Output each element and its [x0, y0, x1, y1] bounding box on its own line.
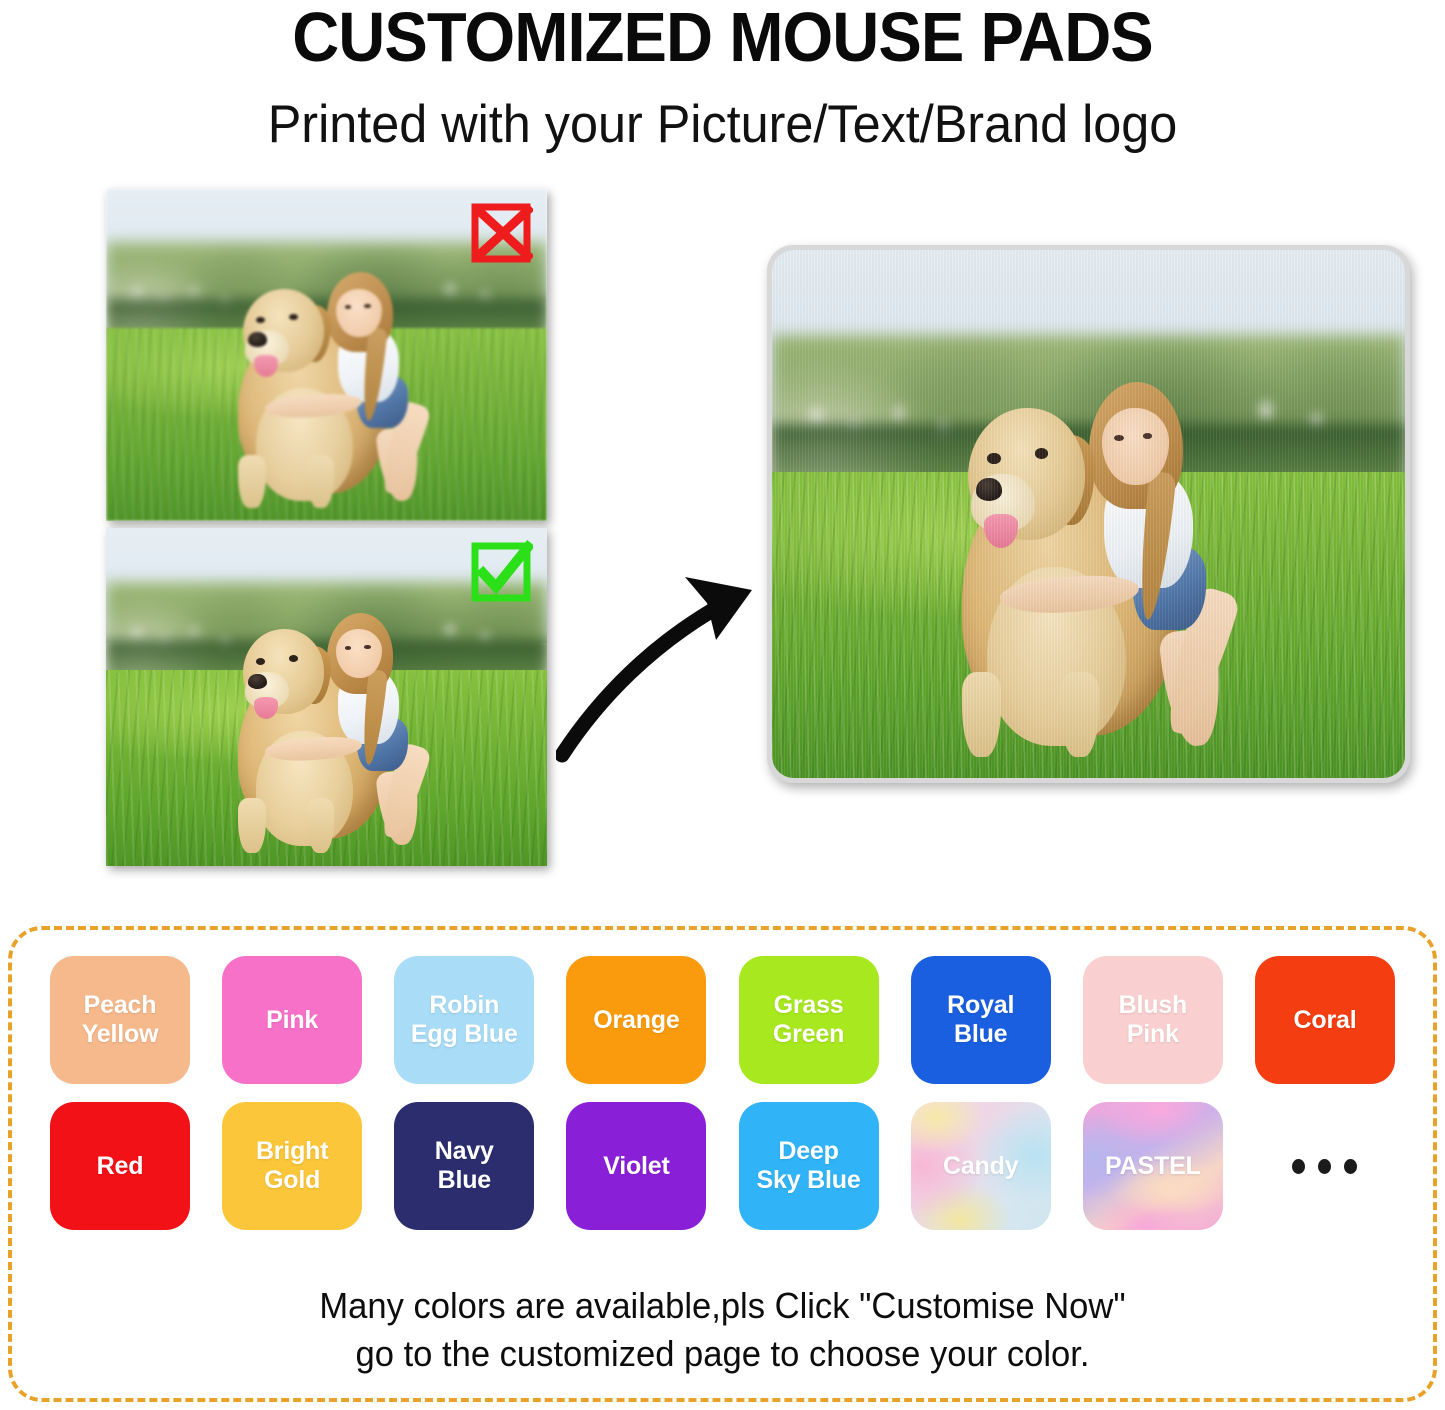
girl-eye-left — [345, 305, 352, 309]
color-swatch-label: Grass Green — [773, 991, 844, 1049]
dog-leg-left — [962, 672, 1001, 756]
page-title: CUSTOMIZED MOUSE PADS — [51, 2, 1395, 73]
color-swatch-bright-gold[interactable]: Bright Gold — [222, 1102, 362, 1230]
color-swatch-pastel[interactable]: PASTEL — [1083, 1102, 1223, 1230]
low-resolution-photo-example — [106, 189, 547, 521]
photo-scene — [772, 250, 1405, 778]
green-check-icon — [469, 540, 533, 604]
girl-smile — [346, 317, 369, 328]
color-swatch-label: Robin Egg Blue — [411, 991, 518, 1049]
color-swatch-row-1: Peach YellowPinkRobin Egg BlueOrangeGras… — [12, 956, 1433, 1084]
dog-eye-right — [1035, 448, 1048, 459]
girl-smile — [1116, 453, 1149, 470]
dog-leg-right — [307, 455, 334, 508]
color-swatch-label: Coral — [1294, 1006, 1357, 1035]
caption-line-2: go to the customized page to choose your… — [40, 1330, 1404, 1378]
dog-leg-left — [238, 455, 265, 508]
color-swatch-robin-egg-blue[interactable]: Robin Egg Blue — [394, 956, 534, 1084]
girl-smile — [346, 658, 369, 669]
high-resolution-photo-example — [106, 528, 547, 866]
curved-arrow-icon — [556, 533, 796, 763]
color-swatch-coral[interactable]: Coral — [1255, 956, 1395, 1084]
dog-nose — [248, 332, 267, 347]
dog-eye-right — [289, 655, 298, 662]
color-swatch-grass-green[interactable]: Grass Green — [739, 956, 879, 1084]
photo-comparison-area — [0, 173, 1445, 893]
color-swatch-row-2: RedBright GoldNavy BlueVioletDeep Sky Bl… — [12, 1102, 1433, 1230]
color-swatch-orange[interactable]: Orange — [566, 956, 706, 1084]
color-swatch-label: Deep Sky Blue — [757, 1137, 861, 1195]
girl-eye-right — [1143, 433, 1152, 439]
girl-eye-left — [345, 646, 352, 650]
color-swatch-label: Blush Pink — [1119, 991, 1187, 1049]
color-swatch-navy-blue[interactable]: Navy Blue — [394, 1102, 534, 1230]
color-swatch-royal-blue[interactable]: Royal Blue — [911, 956, 1051, 1084]
dog-tongue — [254, 355, 278, 377]
color-swatch-label: PASTEL — [1105, 1152, 1201, 1181]
color-swatch-candy[interactable]: Candy — [911, 1102, 1051, 1230]
girl-eye-right — [364, 645, 371, 649]
dog-nose — [248, 674, 267, 689]
color-swatch-violet[interactable]: Violet — [566, 1102, 706, 1230]
girl-eye-left — [1114, 435, 1123, 441]
color-swatch-red[interactable]: Red — [50, 1102, 190, 1230]
dog-leg-left — [238, 798, 265, 852]
color-options-panel: Peach YellowPinkRobin Egg BlueOrangeGras… — [8, 926, 1437, 1402]
page-subtitle: Printed with your Picture/Text/Brand log… — [36, 97, 1409, 153]
color-swatch-label: Royal Blue — [947, 991, 1014, 1049]
color-swatch-label: Bright Gold — [256, 1137, 328, 1195]
dog-nose — [976, 478, 1003, 501]
girl-eye-right — [364, 304, 371, 308]
dog-eye-left — [256, 658, 265, 665]
dog-eye-left — [987, 453, 1000, 464]
dog-leg-right — [1060, 672, 1099, 756]
red-x-icon — [469, 201, 533, 265]
more-colors-ellipsis-icon — [1255, 1102, 1395, 1230]
color-swatch-label: Navy Blue — [435, 1137, 494, 1195]
mouse-pad-product — [767, 245, 1410, 783]
color-swatch-label: Violet — [603, 1152, 669, 1181]
color-swatch-label: Candy — [943, 1152, 1018, 1181]
color-swatch-label: Red — [97, 1152, 144, 1181]
caption-line-1: Many colors are available,pls Click "Cus… — [40, 1282, 1404, 1330]
color-swatch-label: Orange — [593, 1006, 679, 1035]
color-swatch-peach-yellow[interactable]: Peach Yellow — [50, 956, 190, 1084]
color-swatch-label: Peach Yellow — [82, 991, 159, 1049]
color-swatch-blush-pink[interactable]: Blush Pink — [1083, 956, 1223, 1084]
color-swatch-label: Pink — [266, 1006, 318, 1035]
dog-leg-right — [307, 798, 334, 852]
color-swatch-pink[interactable]: Pink — [222, 956, 362, 1084]
color-swatch-deep-sky-blue[interactable]: Deep Sky Blue — [739, 1102, 879, 1230]
panel-caption: Many colors are available,pls Click "Cus… — [40, 1282, 1404, 1377]
girl-face — [1102, 408, 1168, 485]
